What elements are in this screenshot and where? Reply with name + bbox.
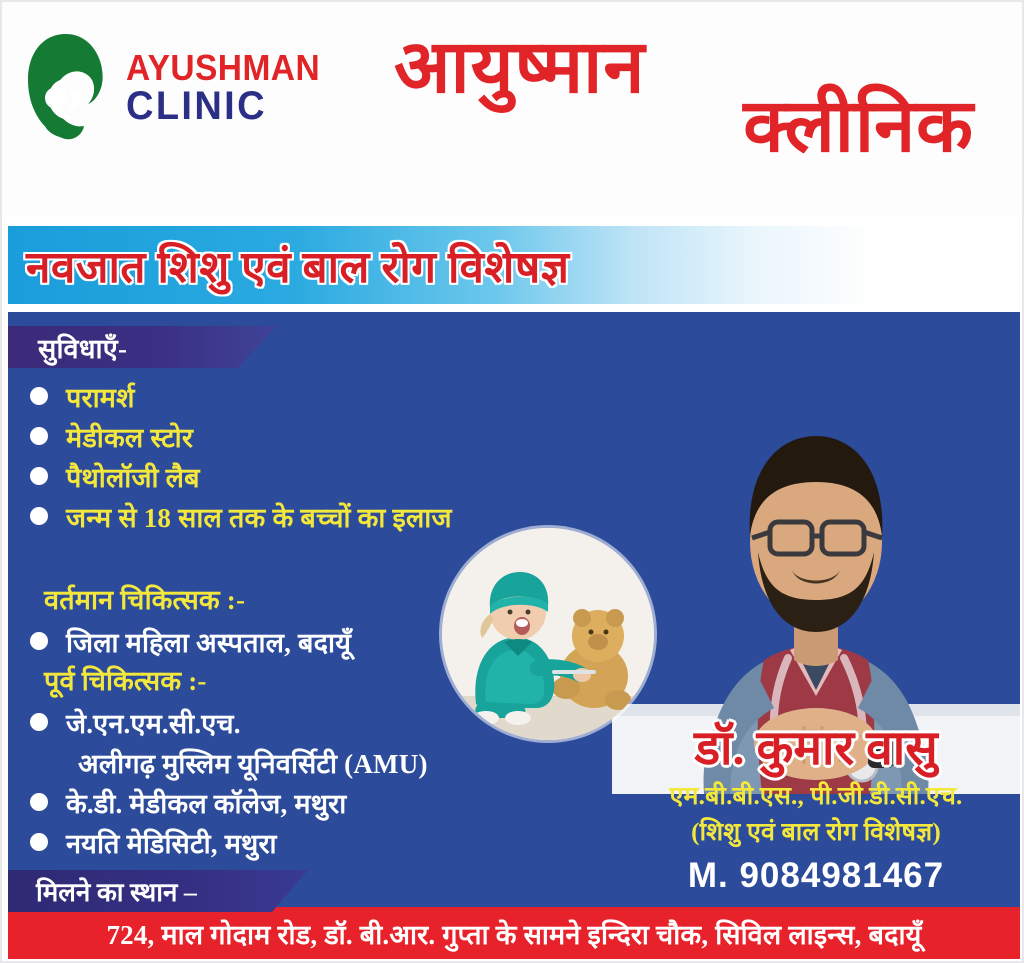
clinic-wordmark: AYUSHMAN CLINIC (126, 50, 335, 126)
specialty-banner: नवजात शिशु एवं बाल रोग विशेषज्ञ (8, 226, 1020, 304)
bullet-icon (30, 713, 48, 731)
past-practice-item: के.डी. मेडीकल कॉलेज, मथुरा (66, 784, 346, 821)
facility-label: परामर्श (66, 378, 135, 415)
clinic-advertisement-poster: AYUSHMAN CLINIC आयुष्मान क्लीनिक नवजात श… (0, 0, 1024, 963)
specialty-banner-text: नवजात शिशु एवं बाल रोग विशेषज्ञ (8, 235, 569, 295)
bullet-icon (30, 833, 48, 851)
list-item: के.डी. मेडीकल कॉलेज, मथुरा (18, 782, 658, 822)
past-practice-subitem: अलीगढ़ मुस्लिम यूनिवर्सिटी (AMU) (18, 742, 658, 782)
mother-and-child-logo-icon (20, 30, 112, 142)
facilities-list: परामर्श मेडीकल स्टोर पैथोलॉजी लैब जन्म स… (18, 376, 638, 536)
list-item: नयति मेडिसिटी, मथुरा (18, 822, 658, 862)
bullet-icon (30, 427, 48, 445)
doctor-qualifications: एम.बी.बी.एस., पी.जी.डी.सी.एच. (612, 778, 1020, 812)
address-bar: 724, माल गोदाम रोड, डॉ. बी.आर. गुप्ता के… (8, 907, 1020, 959)
facility-label: पैथोलॉजी लैब (66, 458, 200, 495)
facility-label: मेडीकल स्टोर (66, 418, 193, 455)
bullet-icon (30, 632, 48, 650)
poster-header: AYUSHMAN CLINIC आयुष्मान क्लीनिक (2, 2, 1024, 216)
list-item: परामर्श (18, 376, 638, 416)
bullet-icon (30, 387, 48, 405)
bullet-icon (30, 467, 48, 485)
child-in-scrubs-with-teddy-photo (442, 528, 654, 740)
list-item: पैथोलॉजी लैब (18, 456, 638, 496)
doctor-specialization: (शिशु एवं बाल रोग विशेषज्ञ) (612, 814, 1020, 848)
facilities-ribbon-label: सुविधाएँ- (8, 329, 127, 366)
facilities-ribbon: सुविधाएँ- (8, 326, 276, 368)
doctor-name: डॉ. कुमार वासु (612, 724, 1020, 774)
list-item: मेडीकल स्टोर (18, 416, 638, 456)
bullet-icon (30, 793, 48, 811)
doctor-identity-block: डॉ. कुमार वासु एम.बी.बी.एस., पी.जी.डी.सी… (612, 724, 1020, 896)
location-ribbon-label: मिलने का स्थान – (8, 873, 197, 909)
brand-name-line2: CLINIC (126, 87, 324, 126)
location-ribbon: मिलने का स्थान – (8, 870, 308, 912)
hindi-clinic-title: आयुष्मान क्लीनिक (364, 36, 1004, 160)
brand-name-line1: AYUSHMAN (126, 50, 320, 85)
past-practice-item: जे.एन.एम.सी.एच. (66, 704, 241, 741)
current-practice-item: जिला महिला अस्पताल, बदायूँ (66, 623, 351, 660)
clinic-address-text: 724, माल गोदाम रोड, डॉ. बी.आर. गुप्ता के… (106, 915, 921, 952)
facility-label: जन्म से 18 साल तक के बच्चों का इलाज (66, 498, 452, 535)
clinic-logo-block: AYUSHMAN CLINIC (20, 30, 335, 142)
doctor-mobile-number[interactable]: M. 9084981467 (612, 856, 1020, 896)
main-content-panel: सुविधाएँ- परामर्श मेडीकल स्टोर पैथोलॉजी … (8, 312, 1020, 912)
past-practice-item: नयति मेडिसिटी, मथुरा (66, 824, 277, 861)
bullet-icon (30, 507, 48, 525)
